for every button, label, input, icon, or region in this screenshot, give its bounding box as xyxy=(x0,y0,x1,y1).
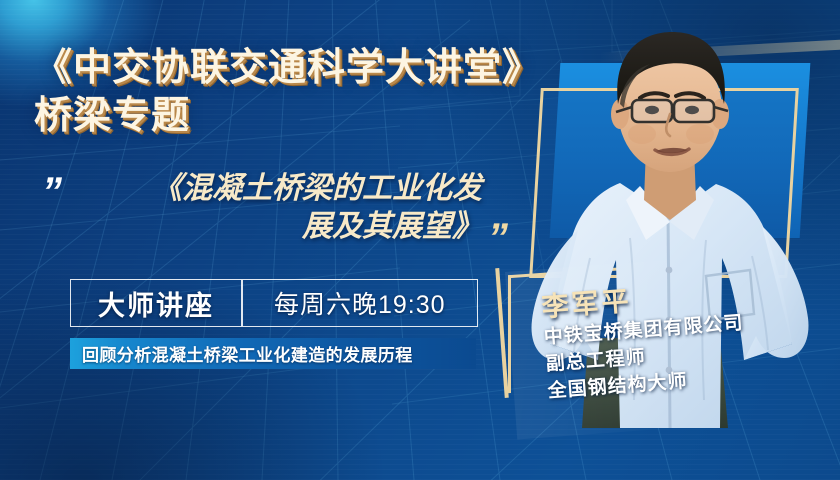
poster-title: 《中交协联交通科学大讲堂》 桥梁专题 xyxy=(34,46,554,139)
speaker-info-panel: 李军平 中铁宝桥集团有限公司 副总工程师 全国钢结构大师 xyxy=(505,247,840,440)
title-line-2: 桥梁专题 xyxy=(34,94,554,139)
session-label: 大师讲座 xyxy=(71,284,241,323)
open-quote-mark: ” xyxy=(42,172,59,212)
subtitle-text: 《混凝土桥梁的工业化发 展及其展望》 xyxy=(82,170,482,247)
close-quote-mark: ” xyxy=(488,218,505,258)
session-time: 每周六晚19:30 xyxy=(243,285,478,321)
session-info-box: 大师讲座 每周六晚19:30 xyxy=(70,279,478,327)
lecture-poster: 《中交协联交通科学大讲堂》 桥梁专题 ” 《混凝土桥梁的工业化发 展及其展望》 … xyxy=(0,0,840,480)
subtitle-line-1: 《混凝土桥梁的工业化发 xyxy=(82,170,482,208)
title-line-1: 《中交协联交通科学大讲堂》 xyxy=(34,46,554,91)
description-text: 回顾分析混凝土桥梁工业化建造的发展历程 xyxy=(70,341,413,366)
subtitle-line-2: 展及其展望》 xyxy=(82,208,482,246)
speaker-info-content: 李军平 中铁宝桥集团有限公司 副总工程师 全国钢结构大师 xyxy=(540,263,840,406)
lecture-subtitle: ” 《混凝土桥梁的工业化发 展及其展望》 ” xyxy=(30,168,530,268)
description-bar: 回顾分析混凝土桥梁工业化建造的发展历程 xyxy=(70,338,476,369)
